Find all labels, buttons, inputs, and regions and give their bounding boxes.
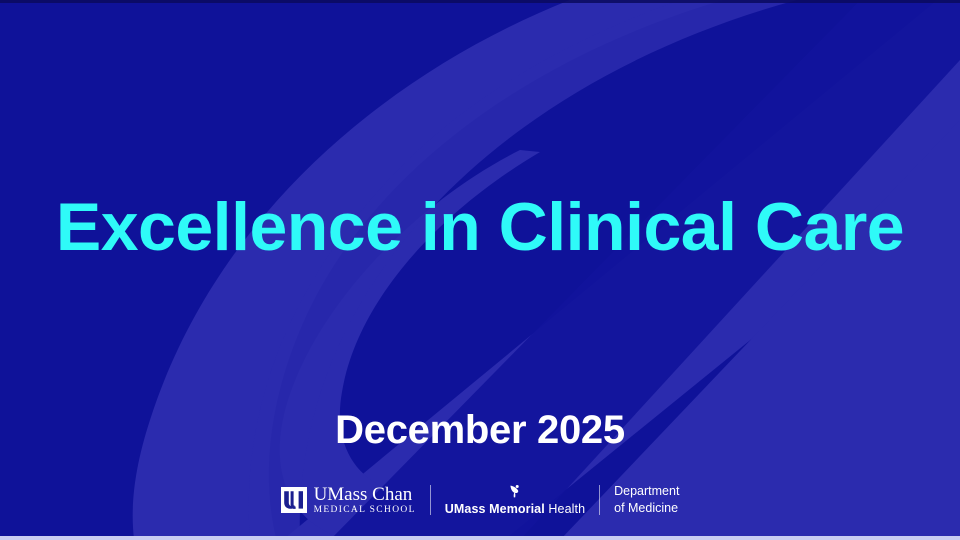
umass-chan-subname: MEDICAL SCHOOL (314, 506, 416, 516)
background-swoosh-graphic (0, 0, 960, 540)
umass-memorial-name: UMass Memorial Health (445, 503, 585, 516)
umass-chan-name: UMass Chan (314, 485, 416, 504)
logo-divider-1 (430, 485, 431, 515)
top-edge-rule (0, 0, 960, 3)
umass-memorial-logo: UMass Memorial Health (445, 480, 585, 520)
slide-date: December 2025 (0, 408, 960, 453)
department-of-medicine-logo: Department of Medicine (614, 480, 679, 520)
umass-chan-logo: UMass Chan MEDICAL SCHOOL (281, 480, 416, 520)
page-title: Excellence in Clinical Care (0, 192, 960, 263)
title-slide: Excellence in Clinical Care December 202… (0, 0, 960, 540)
logo-divider-2 (599, 485, 600, 515)
logo-lockup: UMass Chan MEDICAL SCHOOL UMass Memorial… (0, 478, 960, 522)
department-line-1: Department (614, 483, 679, 500)
department-line-2: of Medicine (614, 500, 679, 517)
umass-chan-u-monogram-icon (281, 487, 307, 513)
umass-memorial-name-light: Health (545, 502, 585, 516)
umass-memorial-name-bold: UMass Memorial (445, 502, 545, 516)
umass-memorial-leaf-icon (507, 484, 522, 499)
bottom-edge-rule (0, 536, 960, 540)
